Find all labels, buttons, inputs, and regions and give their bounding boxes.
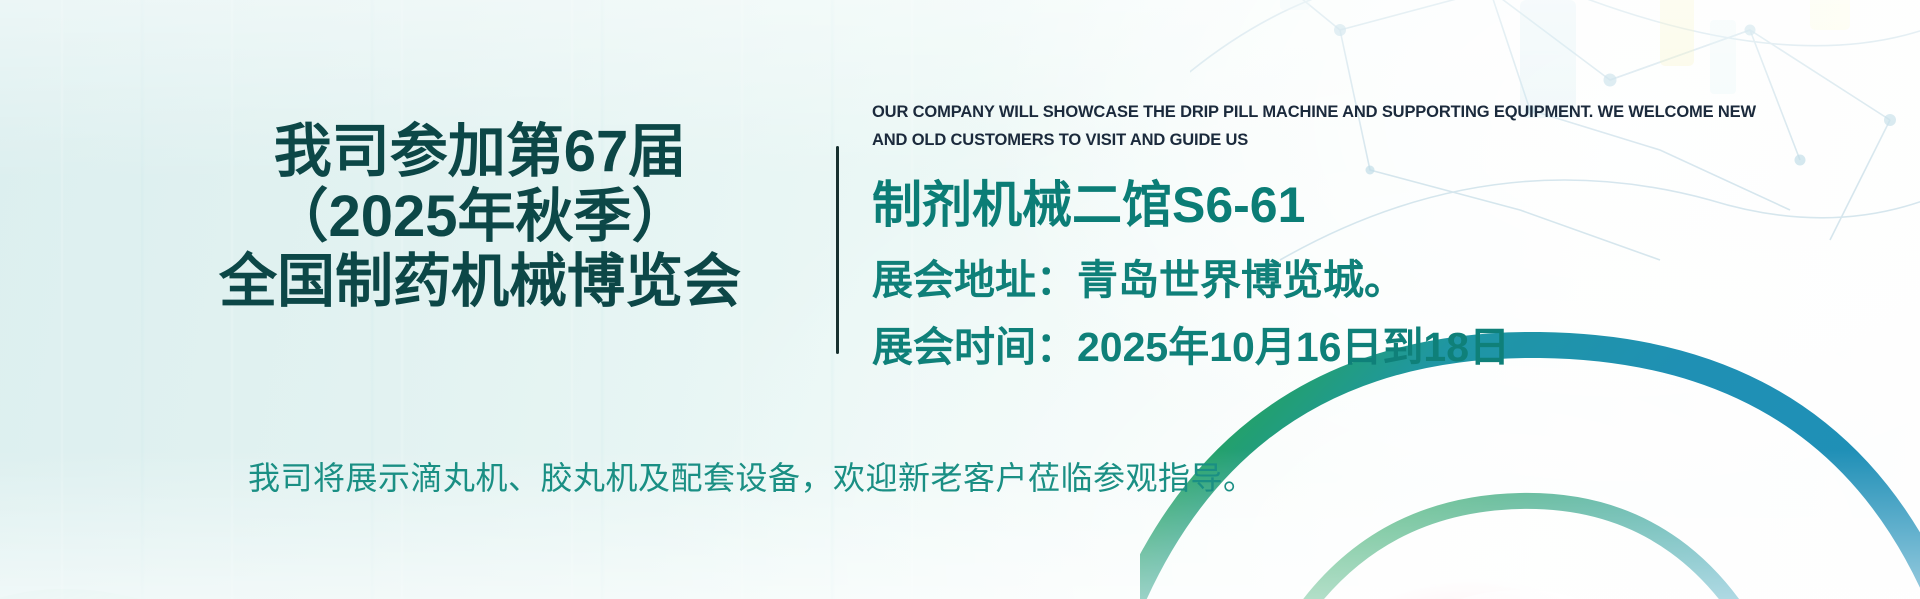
event-title-line-3: 全国制药机械博览会	[150, 250, 810, 315]
exhibit-tagline: 我司将展示滴丸机、胶丸机及配套设备，欢迎新老客户莅临参观指导。	[248, 453, 1256, 499]
event-title-line-1: 我司参加第67届	[150, 120, 810, 185]
event-title: 我司参加第67届 （2025年秋季） 全国制药机械博览会	[150, 120, 810, 315]
event-date: 展会时间：2025年10月16日到18日	[872, 327, 1882, 368]
vertical-divider-icon	[836, 146, 839, 354]
event-title-line-2: （2025年秋季）	[150, 185, 810, 250]
booth-location: 制剂机械二馆S6-61	[872, 180, 1882, 230]
event-address: 展会地址：青岛世界博览城。	[872, 260, 1882, 301]
exhibition-banner: 我司参加第67届 （2025年秋季） 全国制药机械博览会 OUR COMPANY…	[0, 0, 1920, 599]
event-details: OUR COMPANY WILL SHOWCASE THE DRIP PILL …	[872, 98, 1882, 394]
english-subtitle: OUR COMPANY WILL SHOWCASE THE DRIP PILL …	[872, 98, 1777, 154]
